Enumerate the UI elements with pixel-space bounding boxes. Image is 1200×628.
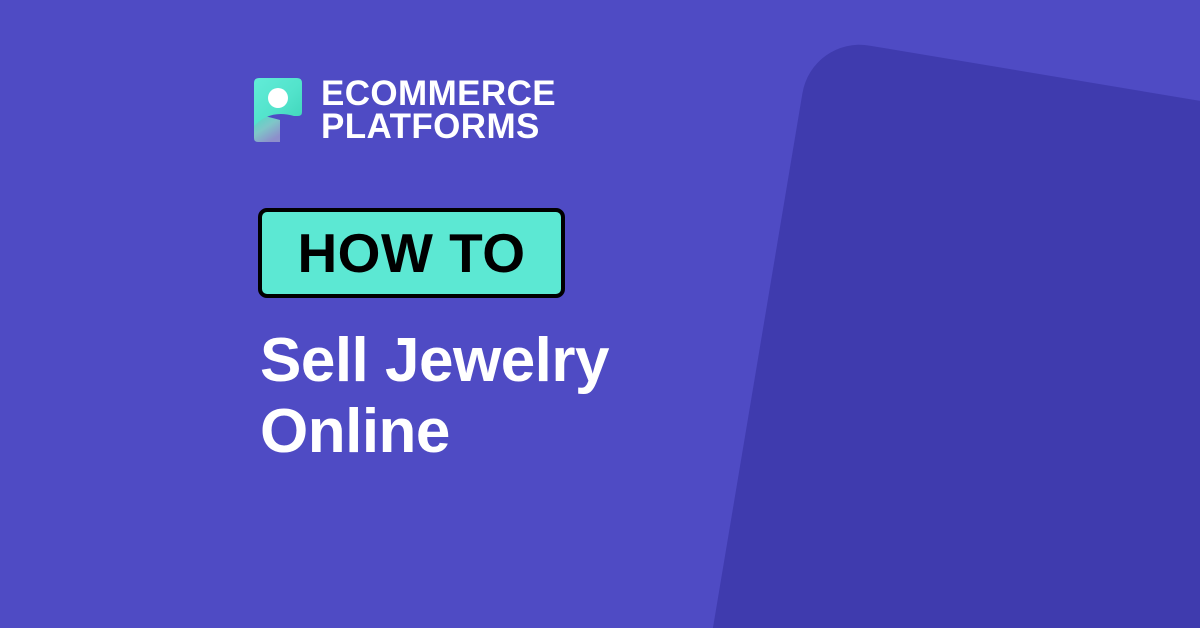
brand-logo[interactable]: ECOMMERCE PLATFORMS bbox=[250, 76, 556, 146]
rotated-rounded-rectangle-shape bbox=[696, 36, 1200, 628]
page-title-line1: Sell Jewelry bbox=[260, 325, 700, 396]
banner-content: ECOMMERCE PLATFORMS HOW TO Sell Jewelry … bbox=[0, 0, 720, 628]
ecommerce-platforms-flag-logo-icon bbox=[250, 76, 306, 146]
brand-name-line2: PLATFORMS bbox=[321, 110, 556, 143]
brand-name-line1: ECOMMERCE bbox=[321, 77, 556, 110]
how-to-badge: HOW TO bbox=[258, 208, 565, 298]
social-share-banner: ECOMMERCE PLATFORMS HOW TO Sell Jewelry … bbox=[0, 0, 1200, 628]
page-title: Sell Jewelry Online bbox=[260, 325, 700, 467]
brand-wordmark: ECOMMERCE PLATFORMS bbox=[321, 77, 556, 143]
page-title-line2: Online bbox=[260, 396, 700, 467]
how-to-badge-label: HOW TO bbox=[297, 226, 525, 281]
